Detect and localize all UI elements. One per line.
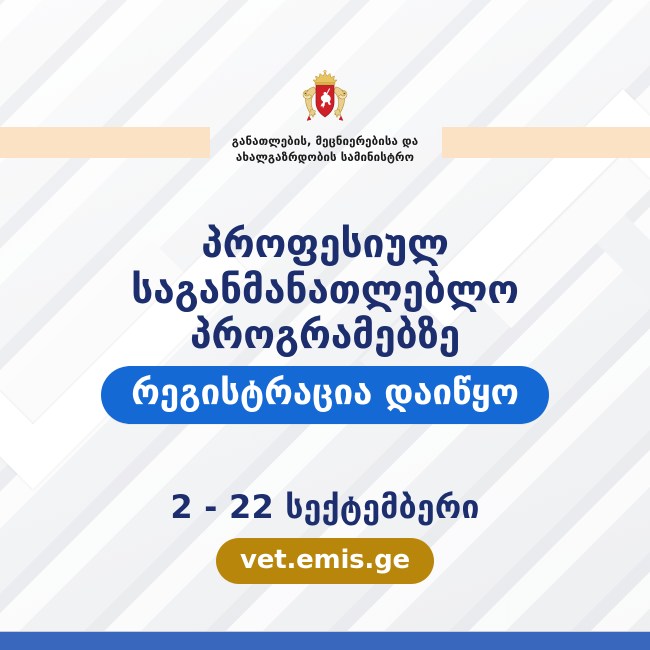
url-container: vet.emis.ge (0, 538, 650, 584)
website-url-badge[interactable]: vet.emis.ge (216, 538, 434, 584)
cta-container: რეგისტრაცია დაიწყო (0, 366, 650, 424)
ministry-name: განათლების, მეცნიერებისა და ახალგაზრდობი… (232, 133, 418, 166)
page-title: პროფესიულ საგანმანათლებლო პროგრამებზე (0, 222, 650, 359)
georgia-coat-of-arms-icon (299, 70, 351, 126)
date-range: 2 - 22 სექტემბერი (0, 488, 650, 526)
announcement-poster: განათლების, მეცნიერებისა და ახალგაზრდობი… (0, 0, 650, 650)
bottom-blue-bar (0, 632, 650, 650)
header: განათლების, მეცნიერებისა და ახალგაზრდობი… (0, 70, 650, 166)
registration-open-badge[interactable]: რეგისტრაცია დაიწყო (101, 366, 549, 424)
